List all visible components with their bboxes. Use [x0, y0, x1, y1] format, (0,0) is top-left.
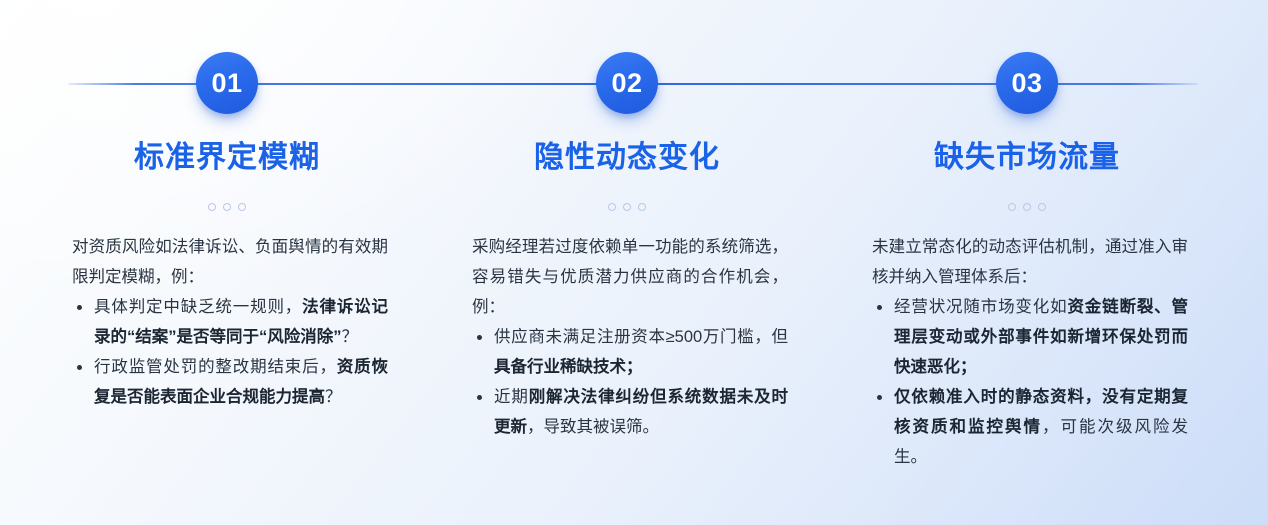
bullet-text: ，导致其被误筛。	[527, 418, 659, 436]
bullet-text: 具体判定中缺乏统一规则，	[94, 298, 302, 316]
dot-icon	[238, 203, 246, 211]
badge-wrapper-02: 02	[427, 52, 827, 114]
step-number-02: 02	[611, 70, 642, 97]
bullet-text: ？	[342, 328, 359, 346]
dots-decoration-03	[827, 203, 1227, 211]
step-number-01: 01	[211, 70, 242, 97]
dot-icon	[638, 203, 646, 211]
bullet-text: ？	[325, 388, 342, 406]
bullet-item: 行政监管处罚的整改期结束后，资质恢复是否能表面企业合规能力提高？	[72, 352, 388, 412]
column-03: 03 缺失市场流量 未建立常态化的动态评估机制，通过准入审核并纳入管理体系后： …	[827, 0, 1227, 525]
step-badge-03[interactable]: 03	[996, 52, 1058, 114]
bullet-list-02: 供应商未满足注册资本≥500万门槛，但具备行业稀缺技术；近期刚解决法律纠纷但系统…	[472, 322, 788, 442]
column-heading-02: 隐性动态变化	[427, 141, 827, 176]
dot-icon	[1023, 203, 1031, 211]
column-lead-02: 采购经理若过度依赖单一功能的系统筛选，容易错失与优质潜力供应商的合作机会，例：	[472, 232, 788, 322]
infographic-stage: 01 标准界定模糊 对资质风险如法律诉讼、负面舆情的有效期限判定模糊，例： 具体…	[0, 0, 1268, 525]
badge-wrapper-03: 03	[827, 52, 1227, 114]
columns-container: 01 标准界定模糊 对资质风险如法律诉讼、负面舆情的有效期限判定模糊，例： 具体…	[0, 0, 1268, 525]
column-lead-03: 未建立常态化的动态评估机制，通过准入审核并纳入管理体系后：	[872, 232, 1188, 292]
bullet-text: 近期	[494, 388, 529, 406]
bullet-item: 供应商未满足注册资本≥500万门槛，但具备行业稀缺技术；	[472, 322, 788, 382]
bullet-item: 仅依赖准入时的静态资料，没有定期复核资质和监控舆情，可能次级风险发生。	[872, 382, 1188, 472]
bullet-list-03: 经营状况随市场变化如资金链断裂、管理层变动或外部事件如新增环保处罚而快速恶化；仅…	[872, 292, 1188, 472]
step-number-03: 03	[1011, 70, 1042, 97]
badge-wrapper-01: 01	[27, 52, 427, 114]
dot-icon	[1008, 203, 1016, 211]
step-badge-01[interactable]: 01	[196, 52, 258, 114]
column-02: 02 隐性动态变化 采购经理若过度依赖单一功能的系统筛选，容易错失与优质潜力供应…	[427, 0, 827, 525]
bullet-item: 具体判定中缺乏统一规则，法律诉讼记录的“结案”是否等同于“风险消除”？	[72, 292, 388, 352]
dot-icon	[223, 203, 231, 211]
column-lead-01: 对资质风险如法律诉讼、负面舆情的有效期限判定模糊，例：	[72, 232, 388, 292]
column-body-03: 未建立常态化的动态评估机制，通过准入审核并纳入管理体系后： 经营状况随市场变化如…	[872, 232, 1188, 472]
bullet-text: 供应商未满足注册资本≥500万门槛，但	[494, 328, 788, 346]
dots-decoration-02	[427, 203, 827, 211]
step-badge-02[interactable]: 02	[596, 52, 658, 114]
bullet-item: 近期刚解决法律纠纷但系统数据未及时更新，导致其被误筛。	[472, 382, 788, 442]
dot-icon	[208, 203, 216, 211]
bullet-item: 经营状况随市场变化如资金链断裂、管理层变动或外部事件如新增环保处罚而快速恶化；	[872, 292, 1188, 382]
dots-decoration-01	[27, 203, 427, 211]
bullet-text: 经营状况随市场变化如	[894, 298, 1067, 316]
dot-icon	[1038, 203, 1046, 211]
dot-icon	[608, 203, 616, 211]
column-01: 01 标准界定模糊 对资质风险如法律诉讼、负面舆情的有效期限判定模糊，例： 具体…	[27, 0, 427, 525]
dot-icon	[623, 203, 631, 211]
bullet-text: 行政监管处罚的整改期结束后，	[94, 358, 337, 376]
column-heading-01: 标准界定模糊	[27, 141, 427, 176]
bullet-list-01: 具体判定中缺乏统一规则，法律诉讼记录的“结案”是否等同于“风险消除”？行政监管处…	[72, 292, 388, 412]
column-body-01: 对资质风险如法律诉讼、负面舆情的有效期限判定模糊，例： 具体判定中缺乏统一规则，…	[72, 232, 388, 412]
column-heading-03: 缺失市场流量	[827, 141, 1227, 176]
column-body-02: 采购经理若过度依赖单一功能的系统筛选，容易错失与优质潜力供应商的合作机会，例： …	[472, 232, 788, 442]
bullet-text-emphasis: 具备行业稀缺技术；	[494, 358, 643, 376]
